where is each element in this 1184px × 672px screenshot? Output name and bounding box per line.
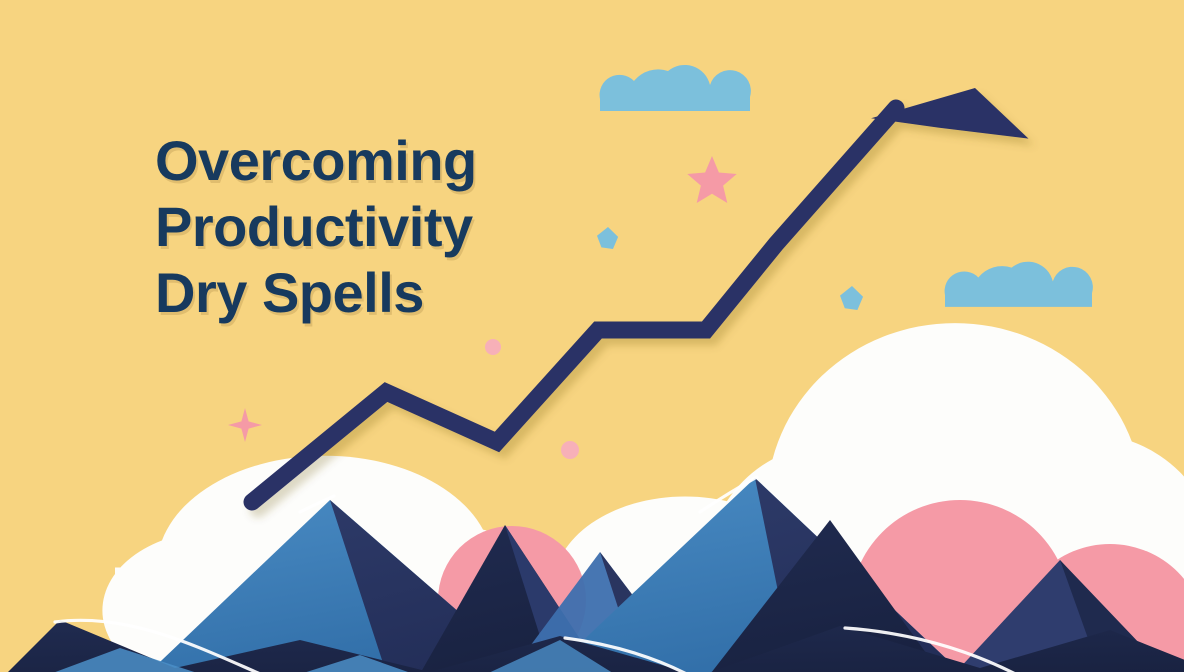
arrow-layer: [0, 0, 1184, 672]
poster-canvas: Overcoming Productivity Dry Spells: [0, 0, 1184, 672]
growth-arrow-head: [871, 88, 1028, 139]
growth-arrow-line: [252, 108, 896, 502]
